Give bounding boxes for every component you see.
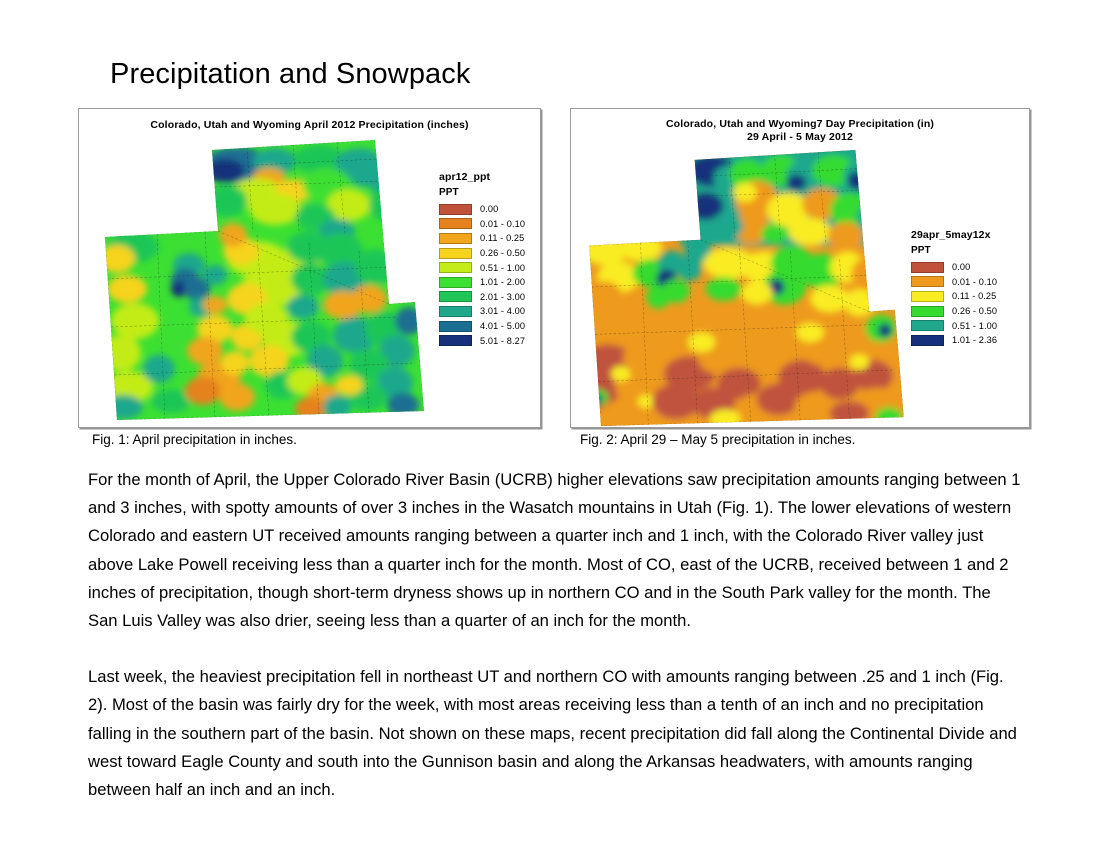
slide-canvas: Precipitation and Snowpack Colorado, Uta… <box>0 0 1100 850</box>
legend-entry-label: 0.26 - 0.50 <box>952 306 997 316</box>
legend-entry: 0.51 - 1.00 <box>439 260 525 275</box>
legend-color-swatch <box>911 335 944 346</box>
legend-entry-label: 3.01 - 4.00 <box>480 306 525 316</box>
legend-entry: 0.11 - 0.25 <box>439 231 525 246</box>
legend-color-swatch <box>439 218 472 229</box>
april-precipitation-raster <box>97 139 427 421</box>
legend-entry-label: 0.51 - 1.00 <box>952 321 997 331</box>
legend-entry: 1.01 - 2.36 <box>911 333 997 348</box>
legend-entry-label: 2.01 - 3.00 <box>480 292 525 302</box>
legend-subtitle: PPT <box>911 245 997 256</box>
legend-entry: 0.01 - 0.10 <box>911 275 997 290</box>
legend-title: apr12_ppt <box>439 171 525 183</box>
legend-entry-label: 0.01 - 0.10 <box>480 219 525 229</box>
legend-entry: 0.00 <box>911 260 997 275</box>
legend-entry: 0.11 - 0.25 <box>911 289 997 304</box>
legend-color-swatch <box>439 277 472 288</box>
body-paragraph: Last week, the heaviest precipitation fe… <box>88 663 1023 804</box>
figure-1-frame: Colorado, Utah and Wyoming April 2012 Pr… <box>78 108 541 428</box>
figure-1-map-title: Colorado, Utah and Wyoming April 2012 Pr… <box>79 119 540 132</box>
figure-1-legend: apr12_ppt PPT 0.000.01 - 0.100.11 - 0.25… <box>439 171 525 348</box>
seven-day-precipitation-raster <box>579 149 909 427</box>
legend-entry: 0.01 - 0.10 <box>439 217 525 232</box>
legend-color-swatch <box>439 291 472 302</box>
legend-color-swatch <box>911 306 944 317</box>
legend-entry: 2.01 - 3.00 <box>439 290 525 305</box>
legend-color-swatch <box>439 306 472 317</box>
legend-color-swatch <box>439 262 472 273</box>
legend-color-swatch <box>439 321 472 332</box>
figure-2-map-title-line2: 29 April - 5 May 2012 <box>571 131 1029 144</box>
legend-entry: 0.26 - 0.50 <box>911 304 997 319</box>
legend-entry-label: 5.01 - 8.27 <box>480 336 525 346</box>
legend-entry-label: 0.11 - 0.25 <box>480 233 524 243</box>
legend-color-swatch <box>439 335 472 346</box>
legend-color-swatch <box>439 233 472 244</box>
legend-subtitle: PPT <box>439 187 525 198</box>
body-paragraph: For the month of April, the Upper Colora… <box>88 466 1023 635</box>
figure-2-legend: 29apr_5may12x PPT 0.000.01 - 0.100.11 - … <box>911 229 997 348</box>
legend-color-swatch <box>911 262 944 273</box>
legend-entry: 1.01 - 2.00 <box>439 275 525 290</box>
figure-1-map-image <box>97 139 427 421</box>
legend-entry: 3.01 - 4.00 <box>439 304 525 319</box>
legend-color-swatch <box>439 248 472 259</box>
figure-2-map-image <box>579 149 909 427</box>
legend-entry-label: 0.00 <box>480 204 498 214</box>
legend-entry-label: 4.01 - 5.00 <box>480 321 525 331</box>
legend-entry-label: 0.01 - 0.10 <box>952 277 997 287</box>
legend-entry-label: 0.26 - 0.50 <box>480 248 525 258</box>
legend-entry: 5.01 - 8.27 <box>439 333 525 348</box>
figure-2-map-title: Colorado, Utah and Wyoming7 Day Precipit… <box>571 118 1029 143</box>
figure-2-map-title-line1: Colorado, Utah and Wyoming7 Day Precipit… <box>571 118 1029 131</box>
legend-entry-list: 0.000.01 - 0.100.11 - 0.250.26 - 0.500.5… <box>439 202 525 348</box>
legend-entry-label: 0.11 - 0.25 <box>952 291 996 301</box>
body-text: For the month of April, the Upper Colora… <box>88 466 1023 804</box>
legend-color-swatch <box>911 276 944 287</box>
legend-entry-label: 1.01 - 2.00 <box>480 277 525 287</box>
legend-title: 29apr_5may12x <box>911 229 997 241</box>
legend-entry: 4.01 - 5.00 <box>439 319 525 334</box>
figure-2-frame: Colorado, Utah and Wyoming7 Day Precipit… <box>570 108 1030 428</box>
legend-entry-label: 0.51 - 1.00 <box>480 263 525 273</box>
page-title: Precipitation and Snowpack <box>110 58 470 91</box>
legend-entry-list: 0.000.01 - 0.100.11 - 0.250.26 - 0.500.5… <box>911 260 997 348</box>
legend-color-swatch <box>439 204 472 215</box>
legend-entry-label: 0.00 <box>952 262 970 272</box>
legend-entry-label: 1.01 - 2.36 <box>952 335 997 345</box>
figure-2-caption: Fig. 2: April 29 – May 5 precipitation i… <box>580 432 855 447</box>
legend-entry: 0.00 <box>439 202 525 217</box>
figure-1-caption: Fig. 1: April precipitation in inches. <box>92 432 297 447</box>
legend-color-swatch <box>911 320 944 331</box>
legend-entry: 0.51 - 1.00 <box>911 318 997 333</box>
legend-color-swatch <box>911 291 944 302</box>
legend-entry: 0.26 - 0.50 <box>439 246 525 261</box>
